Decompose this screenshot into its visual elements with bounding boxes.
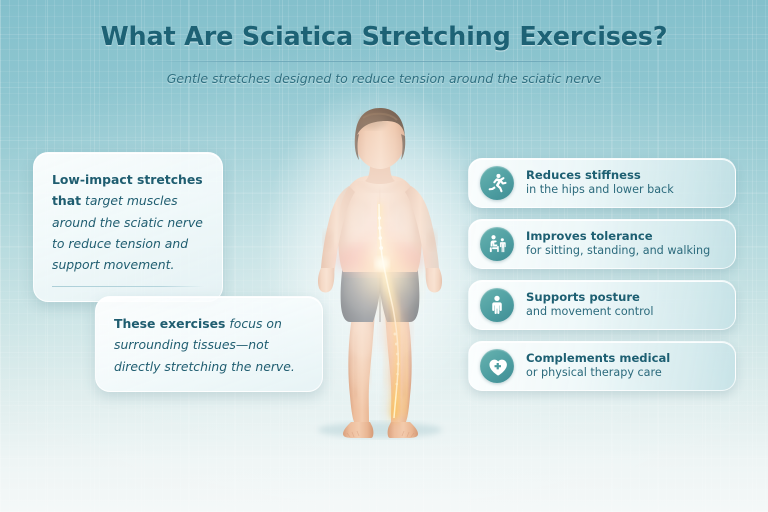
standing-person-icon [480,288,514,322]
title-divider [149,61,619,62]
clarification-lead: These exercises [114,316,225,331]
page-title: What Are Sciatica Stretching Exercises? [0,22,768,52]
benefit-text: Reduces stiffness in the hips and lower … [526,168,674,198]
benefit-card-improves-tolerance[interactable]: Improves tolerance for sitting, standing… [468,219,736,269]
benefit-subtitle: and movement control [526,305,653,320]
heart-medical-cross-icon [480,349,514,383]
infographic-canvas: What Are Sciatica Stretching Exercises? … [0,0,768,512]
clarification-text: These exercises focus on surrounding tis… [114,313,304,377]
benefit-card-complements-medical[interactable]: Complements medical or physical therapy … [468,341,736,391]
benefit-subtitle: for sitting, standing, and walking [526,244,710,259]
benefit-subtitle: or physical therapy care [526,366,670,381]
benefit-text: Supports posture and movement control [526,290,653,320]
running-person-icon [480,166,514,200]
clarification-card: These exercises focus on surrounding tis… [95,296,323,392]
benefits-list: Reduces stiffness in the hips and lower … [468,158,736,402]
benefit-title: Improves tolerance [526,229,710,244]
page-subtitle: Gentle stretches designed to reduce tens… [0,71,768,86]
benefit-card-reduces-stiffness[interactable]: Reduces stiffness in the hips and lower … [468,158,736,208]
benefit-subtitle: in the hips and lower back [526,183,674,198]
benefit-text: Improves tolerance for sitting, standing… [526,229,710,259]
benefit-title: Reduces stiffness [526,168,674,183]
benefit-title: Complements medical [526,351,670,366]
definition-card-divider [52,286,204,287]
seated-person-icon [480,227,514,261]
benefit-title: Supports posture [526,290,653,305]
header: What Are Sciatica Stretching Exercises? … [0,22,768,86]
definition-card: Low-impact stretches that target muscles… [33,152,223,302]
benefit-text: Complements medical or physical therapy … [526,351,670,381]
definition-text: Low-impact stretches that target muscles… [52,169,204,276]
benefit-card-supports-posture[interactable]: Supports posture and movement control [468,280,736,330]
